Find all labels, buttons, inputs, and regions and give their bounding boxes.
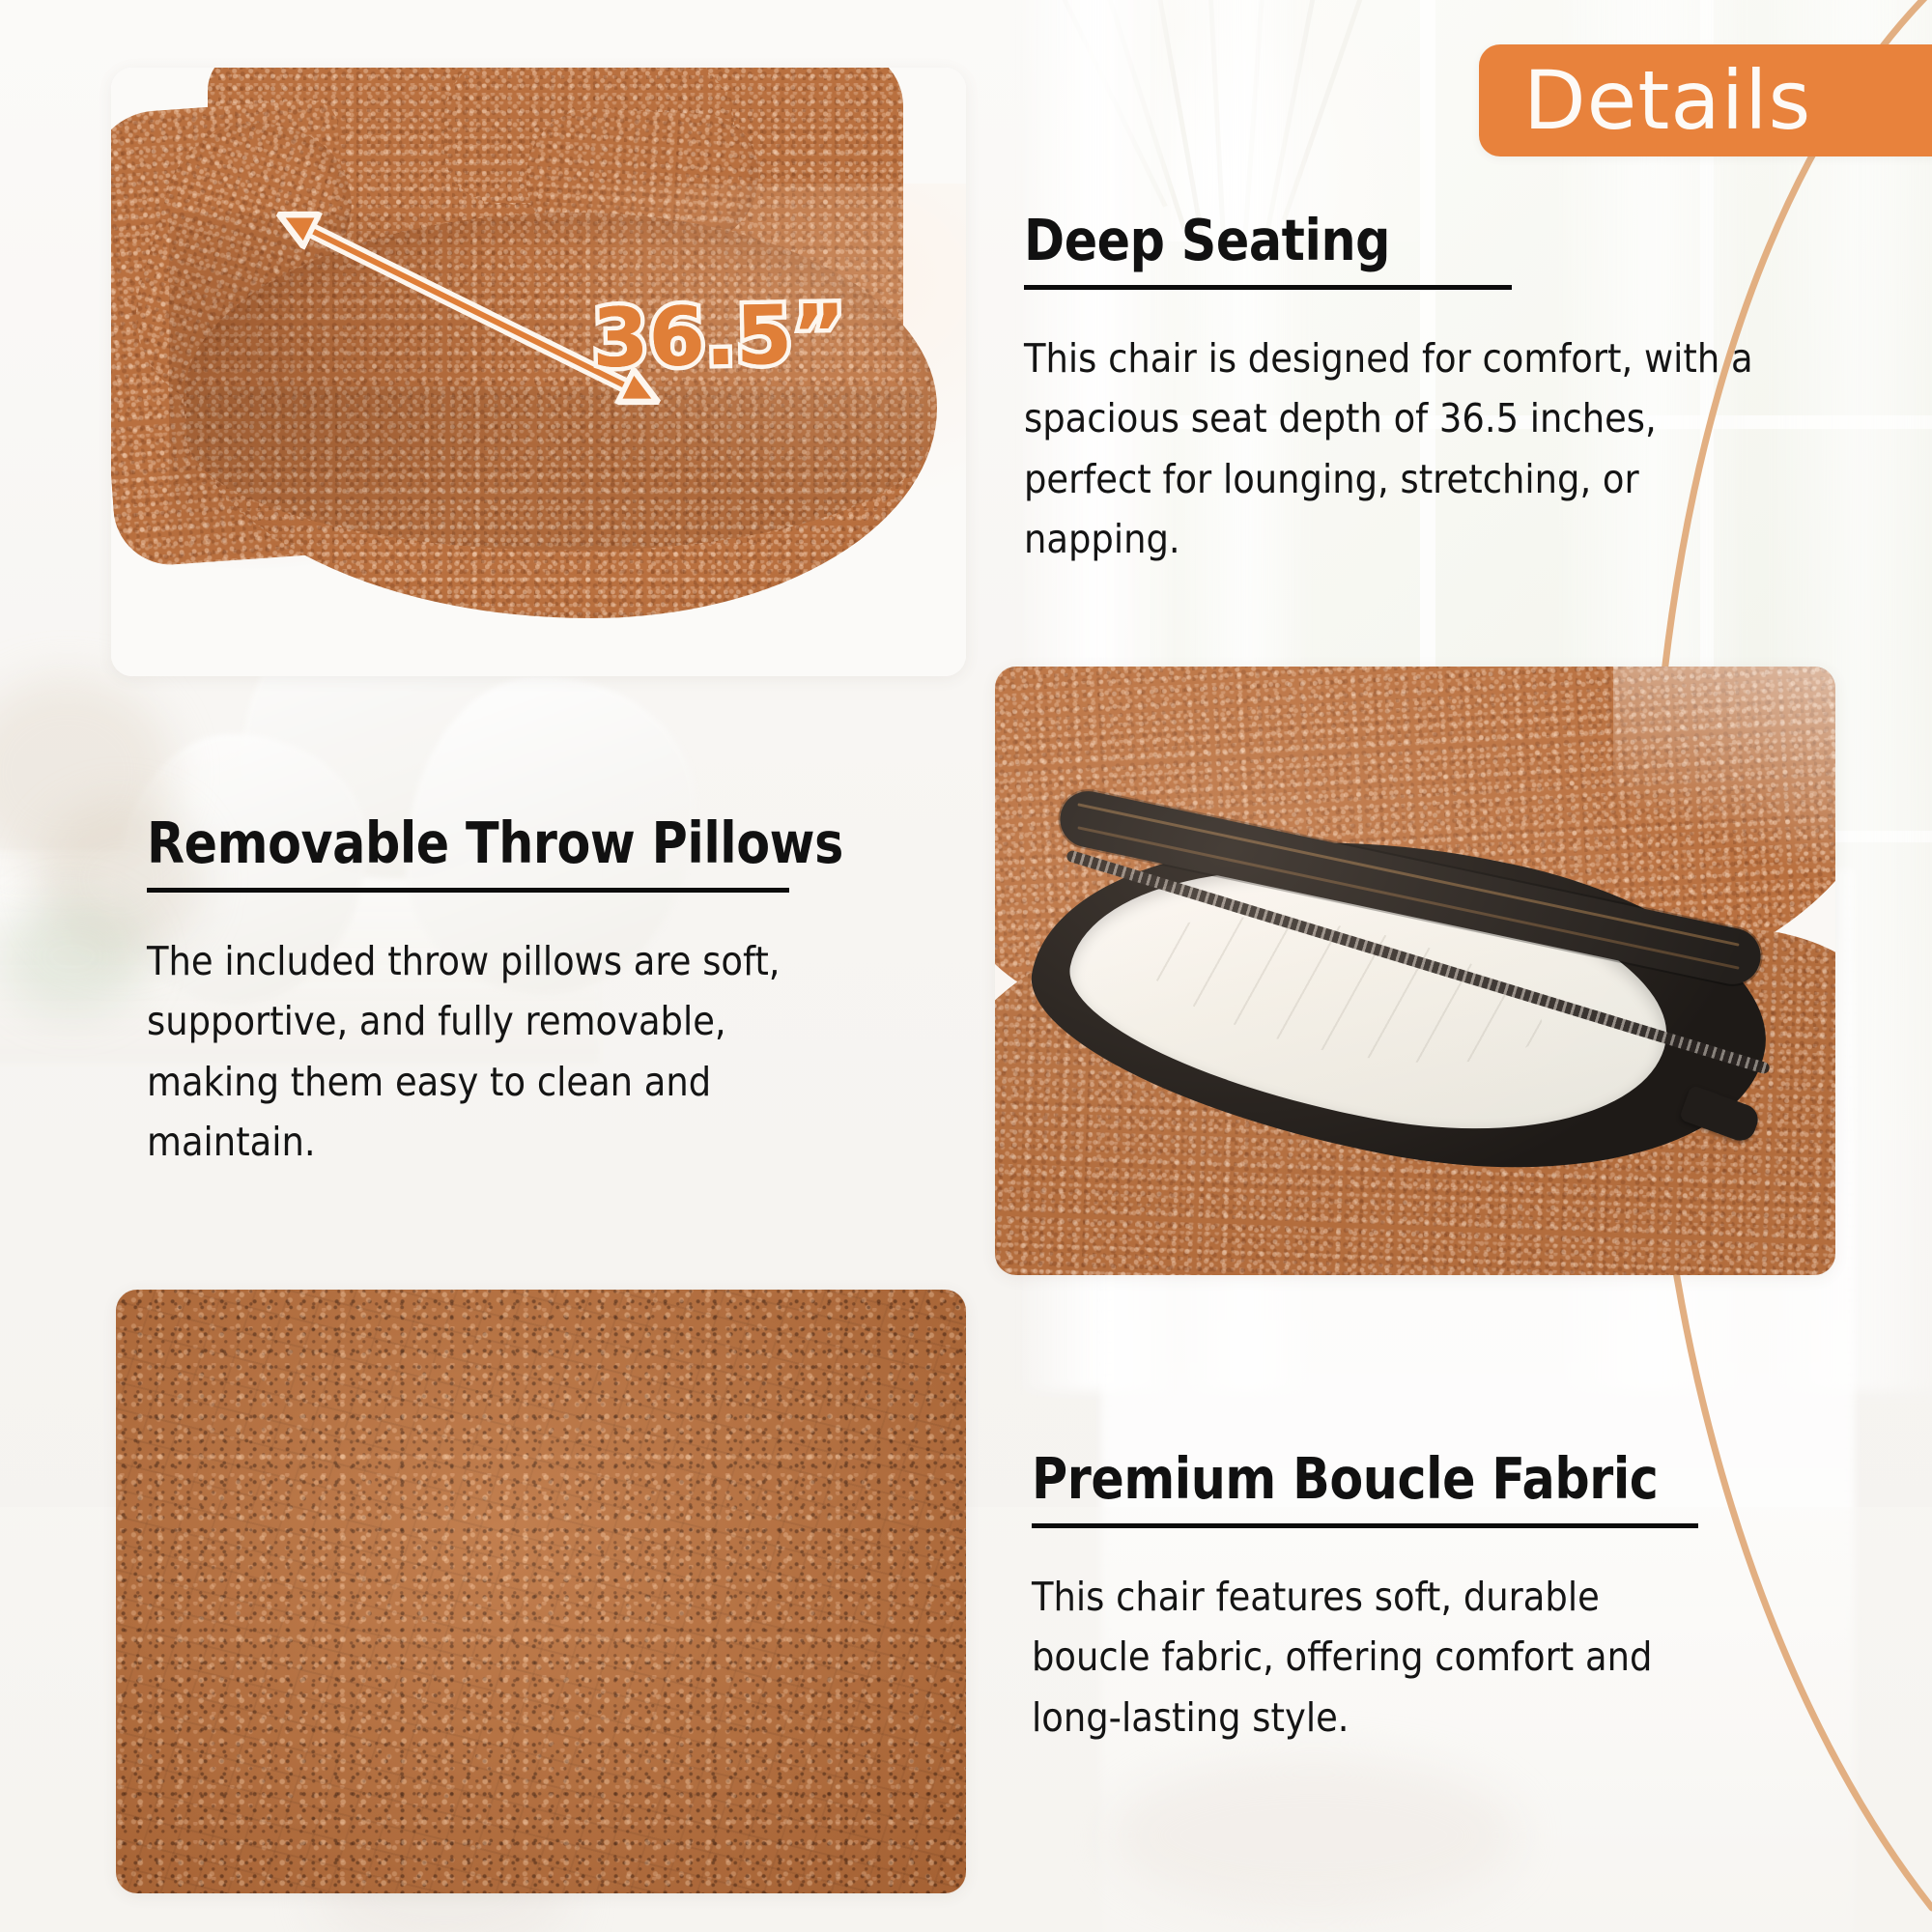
section-premium-boucle-fabric: Premium Boucle Fabric This chair feature… xyxy=(1032,1449,1804,1747)
section-body: The included throw pillows are soft, sup… xyxy=(147,931,834,1172)
zipper-detail-photo-card[interactable] xyxy=(995,667,1835,1275)
chair-seat-photo-card[interactable]: 36.5” xyxy=(111,68,966,676)
section-heading: Deep Seating xyxy=(1024,211,1672,270)
section-body: This chair is designed for comfort, with… xyxy=(1024,328,1772,569)
heading-rule xyxy=(147,888,789,893)
details-badge-label: Details xyxy=(1523,60,1811,141)
fabric-swatch-photo-card[interactable] xyxy=(116,1290,966,1893)
section-removable-throw-pillows: Removable Throw Pillows The included thr… xyxy=(147,813,949,1172)
section-body: This chair features soft, durable boucle… xyxy=(1032,1567,1727,1747)
heading-rule xyxy=(1032,1523,1698,1528)
seat-depth-dimension-label: 36.5” xyxy=(591,294,846,380)
product-detail-page: Details xyxy=(0,0,1932,1932)
section-deep-seating: Deep Seating This chair is designed for … xyxy=(1024,211,1777,569)
section-heading: Removable Throw Pillows xyxy=(147,813,837,873)
details-badge: Details xyxy=(1479,44,1932,156)
heading-rule xyxy=(1024,285,1512,290)
section-heading: Premium Boucle Fabric xyxy=(1032,1449,1696,1509)
